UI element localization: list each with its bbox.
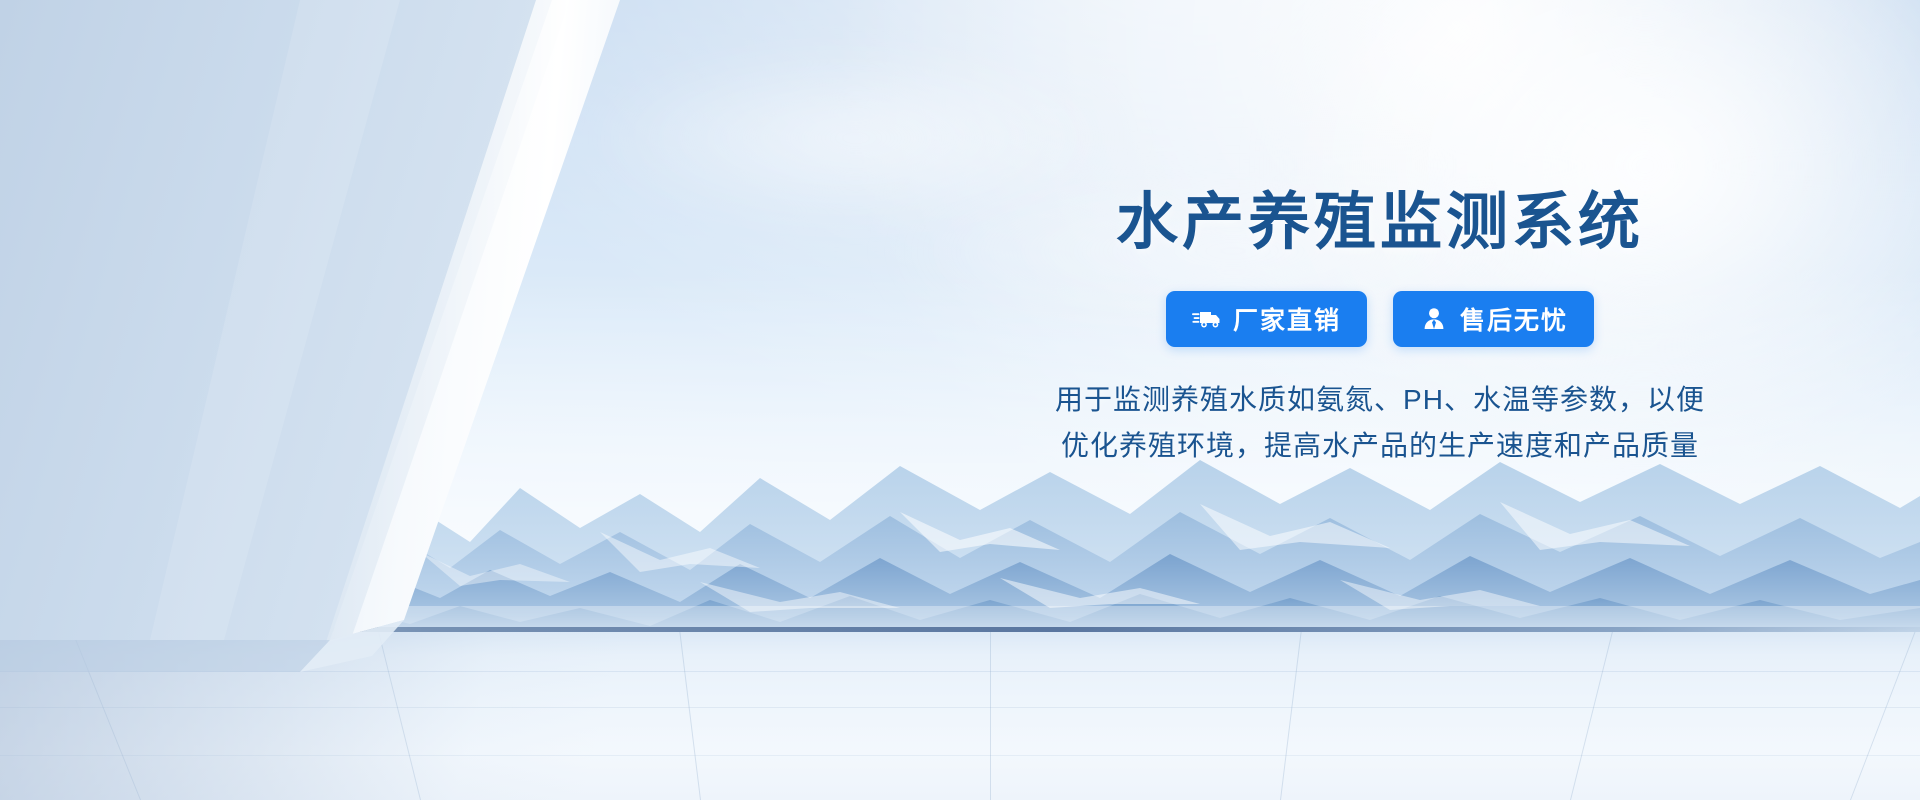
page-title: 水产养殖监测系统 bbox=[900, 186, 1860, 259]
badge-label: 售后无忧 bbox=[1460, 301, 1568, 337]
hero-content: 水产养殖监测系统 厂家直销 bbox=[900, 186, 1860, 468]
badge-label: 厂家直销 bbox=[1233, 301, 1341, 337]
person-icon bbox=[1419, 306, 1449, 332]
badge-group: 厂家直销 售后无忧 bbox=[900, 291, 1860, 347]
truck-icon bbox=[1192, 306, 1222, 332]
badge-after-sales[interactable]: 售后无忧 bbox=[1393, 291, 1594, 347]
hero-banner: 水产养殖监测系统 厂家直销 bbox=[0, 0, 1920, 800]
hero-description: 用于监测养殖水质如氨氮、PH、水温等参数，以便 优化养殖环境，提高水产品的生产速… bbox=[965, 377, 1795, 468]
description-line-1: 用于监测养殖水质如氨氮、PH、水温等参数，以便 bbox=[965, 377, 1795, 422]
left-angled-wall bbox=[0, 0, 620, 800]
badge-factory-direct[interactable]: 厂家直销 bbox=[1166, 291, 1367, 347]
description-line-2: 优化养殖环境，提高水产品的生产速度和产品质量 bbox=[965, 423, 1795, 468]
